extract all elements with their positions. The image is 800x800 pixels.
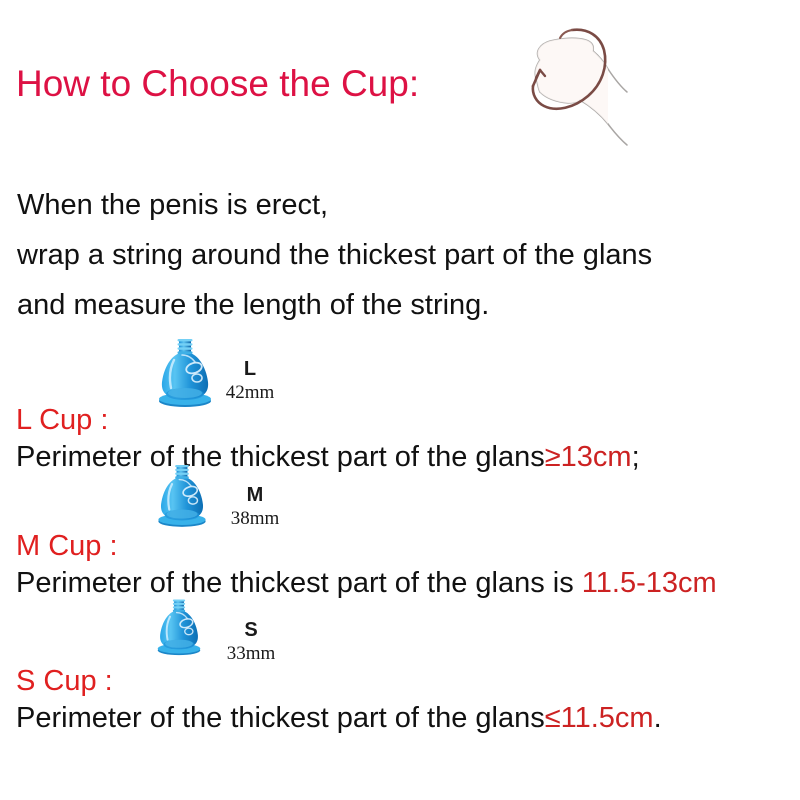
cup-size-letter: L	[205, 358, 295, 380]
cup-heading-m: M Cup :	[16, 530, 118, 563]
cup-heading-l: L Cup :	[16, 404, 108, 437]
cup-size-guide-page: How to Choose the Cup: When the penis is…	[0, 0, 800, 800]
cup-rule-m: Perimeter of the thickest part of the gl…	[16, 567, 717, 600]
cup-rule-l: Perimeter of the thickest part of the gl…	[16, 441, 640, 474]
cup-heading-s: S Cup :	[16, 665, 113, 698]
cup-size-letter: M	[210, 484, 300, 506]
cup-size-letter: S	[206, 619, 296, 641]
intro-line-3: and measure the length of the string.	[17, 280, 777, 330]
string-around-glans-sketch	[496, 8, 646, 158]
cup-rule-value: ≥13cm	[545, 441, 632, 473]
suction-cup-icon	[152, 597, 206, 656]
page-title: How to Choose the Cup:	[16, 63, 419, 105]
suction-cup-icon	[152, 462, 212, 528]
cup-rule-s: Perimeter of the thickest part of the gl…	[16, 702, 662, 735]
cup-rule-value: ≤11.5cm	[545, 702, 654, 734]
cup-rule-suffix: .	[654, 702, 662, 734]
cup-rule-prefix: Perimeter of the thickest part of the gl…	[16, 567, 582, 599]
cup-size-label-m: M 38mm	[210, 484, 300, 530]
intro-line-1: When the penis is erect,	[17, 180, 777, 230]
cup-size-diameter: 33mm	[206, 643, 296, 665]
intro-paragraph: When the penis is erect, wrap a string a…	[17, 180, 777, 330]
cup-rule-value: 11.5-13cm	[582, 567, 717, 599]
intro-line-2: wrap a string around the thickest part o…	[17, 230, 777, 280]
cup-rule-suffix: ;	[632, 441, 640, 473]
cup-size-diameter: 38mm	[210, 508, 300, 530]
cup-size-label-s: S 33mm	[206, 619, 296, 665]
cup-size-diameter: 42mm	[205, 382, 295, 404]
cup-rule-prefix: Perimeter of the thickest part of the gl…	[16, 441, 545, 473]
cup-rule-prefix: Perimeter of the thickest part of the gl…	[16, 702, 545, 734]
cup-size-label-l: L 42mm	[205, 358, 295, 404]
